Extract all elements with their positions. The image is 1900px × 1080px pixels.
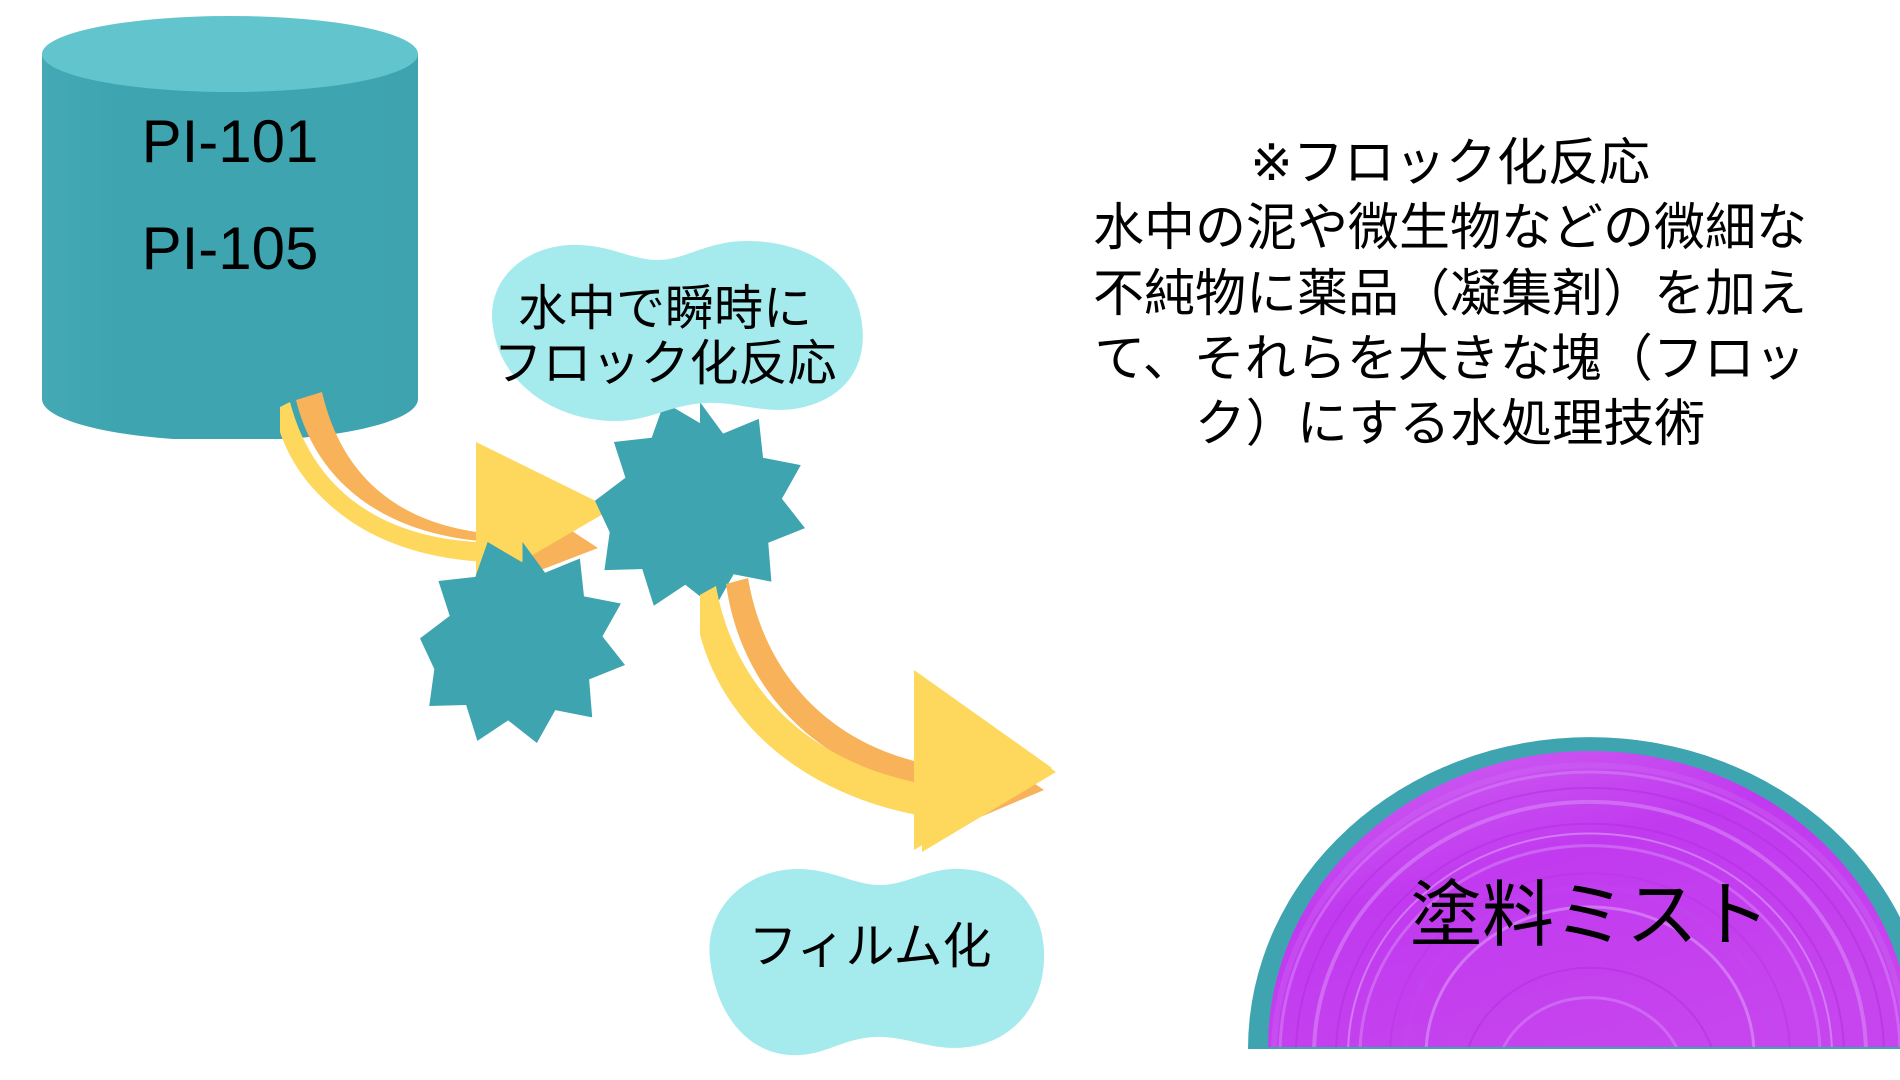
tank-label-pi-101: PI-101 <box>40 112 420 172</box>
explanatory-note: ※フロック化反応 水中の泥や微生物などの微細な 不純物に薬品（凝集剤）を加え て… <box>1010 130 1890 456</box>
diagram-canvas: PI-101 PI-105 水中で瞬時に フロック化反応 <box>0 0 1900 1080</box>
note-line-4: て、それらを大きな塊（フロッ <box>1010 326 1890 391</box>
note-line-1: ※フロック化反応 <box>1010 130 1890 195</box>
callout-cloud-bottom-text: フィルム化 <box>690 920 1050 975</box>
note-line-3: 不純物に薬品（凝集剤）を加え <box>1010 261 1890 326</box>
note-line-5: ク）にする水処理技術 <box>1010 391 1890 456</box>
flow-arrow-2[interactable] <box>700 560 1070 860</box>
burst-2-shape <box>420 542 625 743</box>
tank-top-ellipse <box>42 16 418 92</box>
callout-cloud-top-text: 水中で瞬時に フロック化反応 <box>455 282 875 392</box>
tank-label-pi-105: PI-105 <box>40 219 420 279</box>
dome-label: 塗料ミスト <box>1240 880 1900 952</box>
floc-burst-2[interactable] <box>420 540 625 745</box>
note-line-2: 水中の泥や微生物などの微細な <box>1010 195 1890 260</box>
